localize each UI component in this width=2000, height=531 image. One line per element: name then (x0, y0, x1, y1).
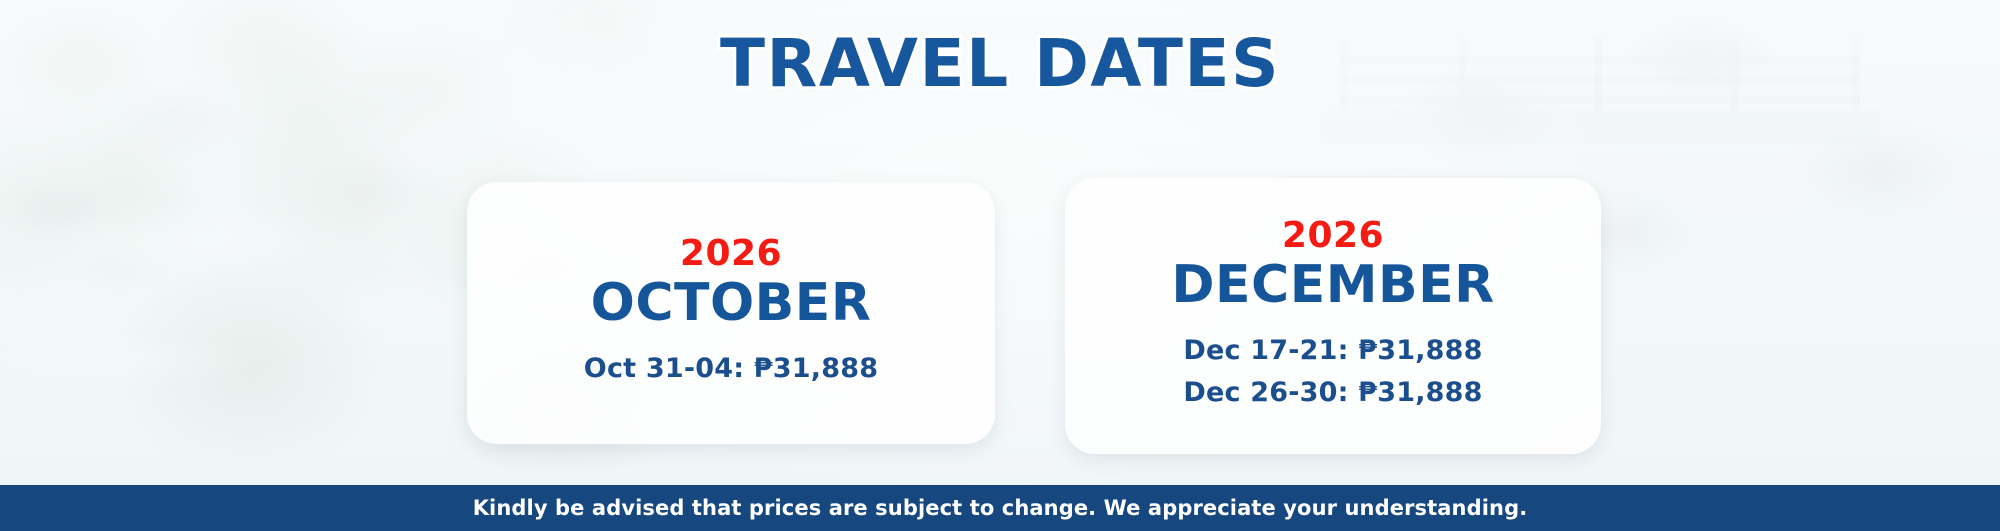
rate-line: Dec 26-30: ₱31,888 (1183, 372, 1482, 414)
rate-line: Dec 17-21: ₱31,888 (1183, 330, 1482, 372)
travel-date-card-october[interactable]: 2026 OCTOBER Oct 31-04: ₱31,888 (467, 182, 995, 444)
card-month-december: DECEMBER (1171, 258, 1494, 313)
card-year-october: 2026 (680, 236, 782, 272)
footer-disclaimer-bar: Kindly be advised that prices are subjec… (0, 485, 2000, 531)
card-year-december: 2026 (1282, 218, 1384, 254)
card-rates-december: Dec 17-21: ₱31,888 Dec 26-30: ₱31,888 (1183, 330, 1482, 414)
travel-date-card-december[interactable]: 2026 DECEMBER Dec 17-21: ₱31,888 Dec 26-… (1065, 178, 1601, 454)
travel-dates-banner: TRAVEL DATES 2026 OCTOBER Oct 31-04: ₱31… (0, 0, 2000, 531)
card-rates-october: Oct 31-04: ₱31,888 (584, 348, 878, 390)
card-month-october: OCTOBER (591, 276, 872, 331)
footer-disclaimer-text: Kindly be advised that prices are subjec… (473, 496, 1528, 520)
banner-title-container: TRAVEL DATES (0, 26, 2000, 102)
page-title: TRAVEL DATES (720, 26, 1280, 102)
rate-line: Oct 31-04: ₱31,888 (584, 348, 878, 390)
